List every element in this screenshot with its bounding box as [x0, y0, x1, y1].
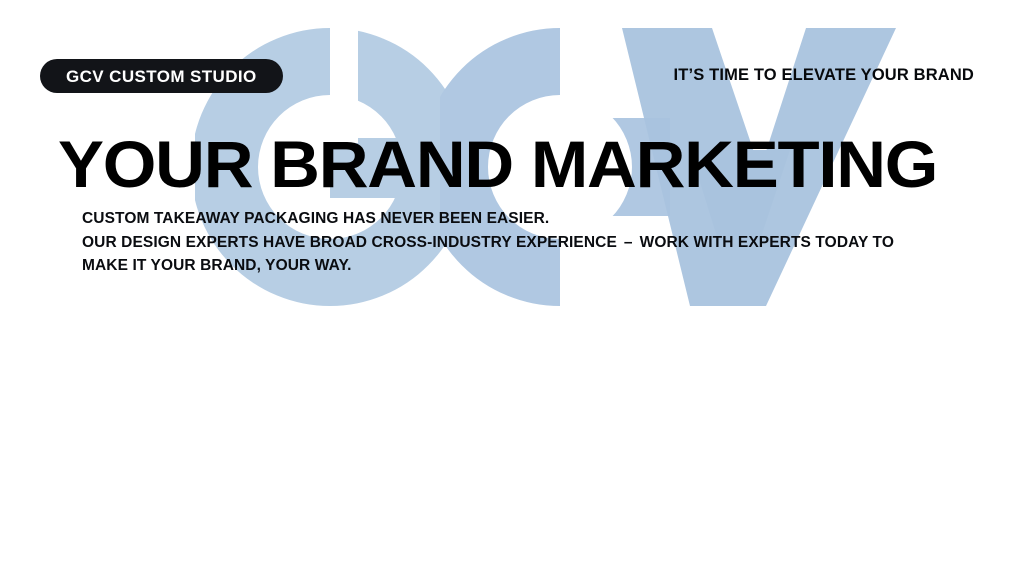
banner-tagline: IT’S TIME TO ELEVATE YOUR BRAND [674, 67, 974, 84]
body-line-2-separator: – [617, 234, 640, 251]
body-line-2-head: OUR DESIGN EXPERTS HAVE BROAD CROSS-INDU… [82, 234, 617, 251]
body-line-1: CUSTOM TAKEAWAY PACKAGING HAS NEVER BEEN… [82, 207, 982, 231]
body-line-2-tail: WORK WITH EXPERTS TODAY TO [640, 234, 894, 251]
brand-pill-badge[interactable]: GCV CUSTOM STUDIO [40, 59, 283, 93]
banner-headline: YOUR BRAND MARKETING [58, 131, 1024, 197]
brand-pill-label: GCV CUSTOM STUDIO [66, 68, 257, 85]
promo-banner: GCV CUSTOM STUDIO IT’S TIME TO ELEVATE Y… [0, 0, 1024, 575]
banner-topbar: GCV CUSTOM STUDIO IT’S TIME TO ELEVATE Y… [0, 59, 1024, 93]
body-line-3: MAKE IT YOUR BRAND, YOUR WAY. [82, 254, 982, 278]
body-line-2: OUR DESIGN EXPERTS HAVE BROAD CROSS-INDU… [82, 231, 982, 255]
banner-body-copy: CUSTOM TAKEAWAY PACKAGING HAS NEVER BEEN… [82, 207, 982, 278]
